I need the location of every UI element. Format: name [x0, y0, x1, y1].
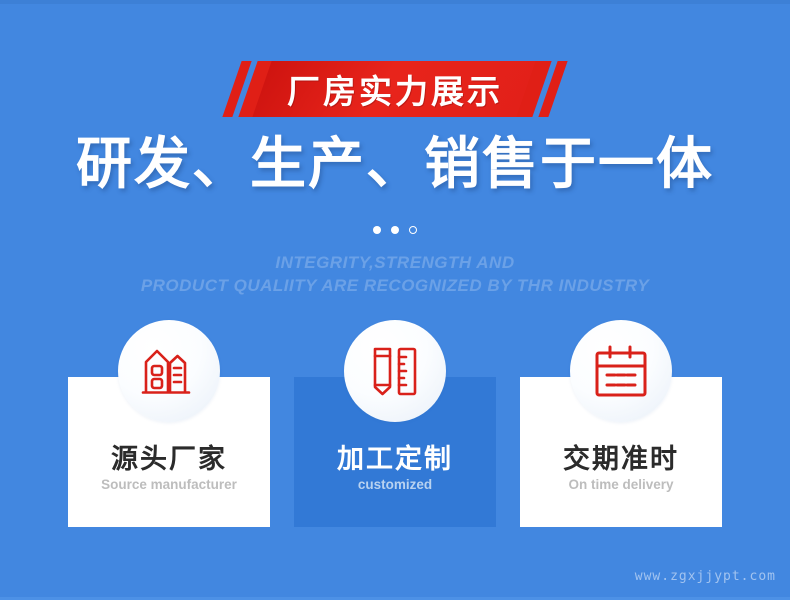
feature-card-on-time-delivery[interactable]: 交期准时 On time delivery [520, 377, 722, 527]
pagination-dot[interactable] [373, 226, 381, 234]
feature-card-title: 交期准时 [520, 437, 722, 476]
feature-card-title: 加工定制 [294, 437, 496, 476]
page-title: 研发、生产、销售于一体 [0, 134, 790, 196]
feature-card-title: 源头厂家 [68, 437, 270, 476]
promo-banner-stage: 厂房实力展示 研发、生产、销售于一体 INTEGRITY,STRENGTH AN… [0, 0, 790, 600]
slogan-line-1: INTEGRITY,STRENGTH AND [0, 252, 790, 275]
calendar-icon [570, 320, 672, 422]
feature-card-subtitle: On time delivery [520, 477, 722, 492]
pagination-dot[interactable] [391, 226, 399, 234]
top-edge-divider [0, 0, 790, 4]
watermark-url: www.zgxjjypt.com [635, 569, 776, 584]
feature-card-customized[interactable]: 加工定制 customized [294, 377, 496, 527]
ribbon-banner: 厂房实力展示 [0, 61, 790, 117]
pagination-dots[interactable] [0, 226, 790, 234]
banner-title: 厂房实力展示 [0, 61, 790, 117]
feature-card-subtitle: customized [294, 477, 496, 492]
factory-building-icon [118, 320, 220, 422]
slogan-line-2: PRODUCT QUALIITY ARE RECOGNIZED BY THR I… [0, 275, 790, 298]
slogan: INTEGRITY,STRENGTH AND PRODUCT QUALIITY … [0, 252, 790, 298]
feature-card-list: 源头厂家 Source manufacturer [68, 377, 722, 527]
feature-card-subtitle: Source manufacturer [68, 477, 270, 492]
feature-card-source-manufacturer[interactable]: 源头厂家 Source manufacturer [68, 377, 270, 527]
pagination-dot[interactable] [409, 226, 417, 234]
pencil-ruler-icon [344, 320, 446, 422]
